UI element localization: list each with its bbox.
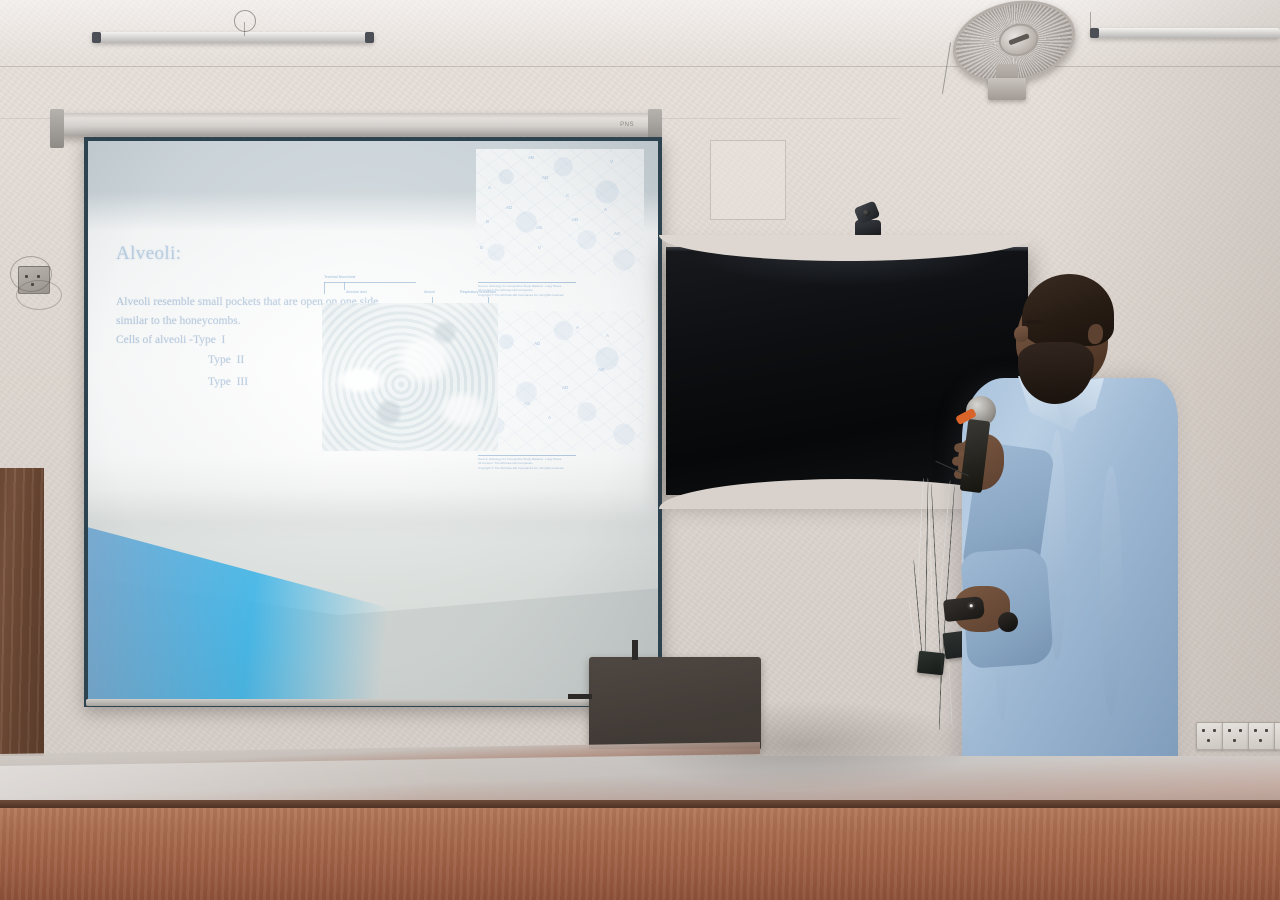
histo-label: V xyxy=(610,159,613,164)
histo-label: A xyxy=(604,207,607,212)
light-hanger-ring xyxy=(234,10,256,32)
presenter-nose xyxy=(1014,326,1028,342)
micrograph-label-1: Alveolar duct xyxy=(346,290,367,294)
histo-label: AS xyxy=(598,367,604,372)
pull-down-projector-screen[interactable]: Alveoli: Alveoli resemble small pockets … xyxy=(84,137,662,707)
wooden-wall-panel xyxy=(0,468,44,798)
histo-label: V xyxy=(538,245,541,250)
histo-label: AB xyxy=(528,155,534,160)
alveoli-sem-micrograph xyxy=(322,303,498,451)
fan-wall-bracket xyxy=(988,78,1026,100)
camera-lens-icon xyxy=(862,208,871,217)
label-leader xyxy=(344,282,345,290)
shirt-fold xyxy=(1100,466,1122,716)
chair-arm xyxy=(568,694,592,699)
light-wire xyxy=(244,22,245,36)
histo-label: AD xyxy=(572,217,578,222)
housing-end-cap xyxy=(50,109,64,148)
socket-pin-hole xyxy=(1254,729,1257,732)
slide-body-line-5: Type III xyxy=(208,373,248,392)
slide-footer-graphic xyxy=(88,512,658,703)
histo-label: AD xyxy=(562,385,568,390)
presenter-person xyxy=(930,270,1190,790)
presenter-ear xyxy=(1088,324,1103,344)
tube-cap xyxy=(1090,28,1099,38)
presenter-remote-clicker[interactable] xyxy=(943,596,985,622)
histo-label: AS xyxy=(524,401,530,406)
presenter-chair[interactable] xyxy=(589,657,761,749)
micrograph-label-top: Terminal Bronchiole xyxy=(324,275,356,279)
histo-label: A xyxy=(606,333,609,338)
presenter-eyebrow xyxy=(1024,320,1044,324)
fan-hub-mark xyxy=(1008,33,1029,45)
socket-pin-hole xyxy=(1239,729,1242,732)
socket-pin-hole xyxy=(1228,729,1231,732)
caption-rule xyxy=(478,455,576,456)
wristwatch xyxy=(998,612,1018,632)
chair-post xyxy=(632,640,638,660)
socket-pin-hole xyxy=(1213,729,1216,732)
histo-label: AD xyxy=(542,175,548,180)
socket-pin-hole xyxy=(1233,739,1236,742)
histo-label: C xyxy=(566,193,569,198)
wall-seam xyxy=(0,66,1280,67)
histology-lower-caption: Source: Histology for Competitive Study … xyxy=(478,457,578,470)
tube-cap xyxy=(365,32,374,43)
histo-label: A xyxy=(488,185,491,190)
histo-label: AD xyxy=(506,205,512,210)
power-socket[interactable] xyxy=(1196,722,1224,750)
histo-label: B xyxy=(480,245,483,250)
slide-body-line-3: Cells of alveoli -Type I xyxy=(116,331,225,350)
junction-conduit xyxy=(16,280,62,310)
light-wire xyxy=(1090,12,1091,30)
socket-pin-hole xyxy=(1202,729,1205,732)
micrograph-label-3: Respiratory bronchiole xyxy=(460,290,496,294)
power-socket[interactable] xyxy=(1274,722,1280,750)
label-rule xyxy=(324,282,416,283)
power-socket[interactable] xyxy=(1248,722,1276,750)
lung-histology-upper: AB AD A AD B AS AD A AS V C B V xyxy=(476,149,644,275)
micrograph-label-2: Alveoli xyxy=(424,290,435,294)
wood-grain xyxy=(0,468,44,798)
slide-body-line-2: similar to the honeycombs. xyxy=(116,312,241,331)
power-socket[interactable] xyxy=(1222,722,1250,750)
wall-patch xyxy=(710,140,786,220)
desk-wood-grain xyxy=(0,808,1280,900)
fluorescent-tube-light xyxy=(1090,28,1280,38)
histo-label: A xyxy=(576,325,579,330)
socket-pin-hole xyxy=(1259,739,1262,742)
caption-rule xyxy=(478,282,576,283)
screen-bottom-bar xyxy=(86,699,652,706)
projector-screen-housing[interactable]: PNS xyxy=(56,113,656,136)
lecture-hall-photo: PNS Alveoli: Alveoli resemble small pock… xyxy=(0,0,1280,900)
socket-pin-hole xyxy=(1207,739,1210,742)
tube-cap xyxy=(92,32,101,43)
footer-wedge-blue xyxy=(88,512,430,703)
histo-label: AD xyxy=(534,341,540,346)
lung-histology-lower: AD A A AS AD AS A B xyxy=(476,311,644,451)
fluorescent-tube-light xyxy=(92,32,374,43)
presentation-slide: Alveoli: Alveoli resemble small pockets … xyxy=(88,141,658,703)
remote-led-indicator xyxy=(970,604,973,607)
slide-body-line-4: Type II xyxy=(208,351,244,370)
histo-label: AS xyxy=(614,231,620,236)
histo-label: AS xyxy=(536,225,542,230)
socket-pin-hole xyxy=(1265,729,1268,732)
wooden-podium-desk-front xyxy=(0,808,1280,900)
slide-title: Alveoli: xyxy=(116,243,181,265)
wall-mounted-fan[interactable] xyxy=(952,2,1078,92)
screen-brand-label: PNS xyxy=(620,122,634,128)
histo-label: A xyxy=(548,415,551,420)
histo-label: B xyxy=(486,219,489,224)
label-leader xyxy=(324,282,325,294)
